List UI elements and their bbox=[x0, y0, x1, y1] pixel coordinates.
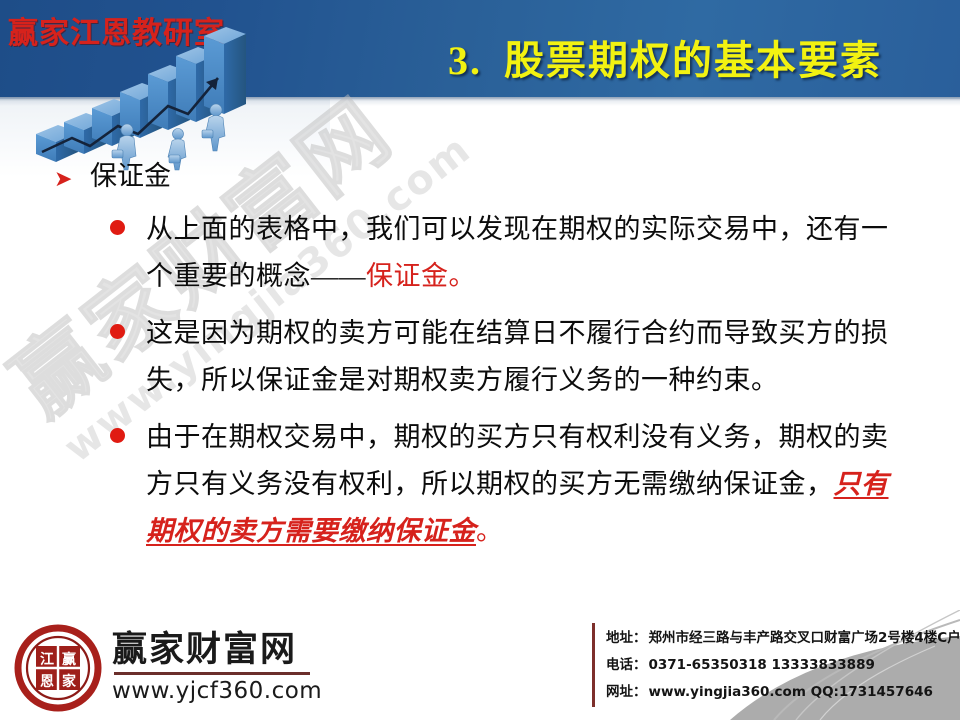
contact-phone-line: 电话：0371-65350318 13333833889 bbox=[606, 652, 960, 679]
seal-stamp-icon: 江 赢 恩 家 bbox=[14, 624, 102, 712]
contact-divider bbox=[592, 623, 595, 707]
bullet-text-highlight: 保证金。 bbox=[366, 261, 476, 291]
dot-bullet-icon bbox=[110, 324, 125, 339]
bar-chart-icon bbox=[28, 22, 288, 174]
bullet-text-highlight: 。 bbox=[476, 516, 504, 546]
bullet-paragraph: 由于在期权交易中，期权的买方只有权利没有义务，期权的卖方只有义务没有权利，所以期… bbox=[146, 414, 906, 555]
title-number: 3. bbox=[448, 38, 482, 83]
dot-bullet-icon bbox=[110, 428, 125, 443]
contact-block: 地址：郑州市经三路与丰产路交叉口财富广场2号楼4楼C户 电话：0371-6535… bbox=[592, 625, 960, 706]
contact-phone-label: 电话： bbox=[606, 657, 647, 673]
svg-text:家: 家 bbox=[62, 673, 77, 690]
contact-address-value: 郑州市经三路与丰产路交叉口财富广场2号楼4楼C户 bbox=[649, 630, 960, 646]
logo-text-block: 赢家财富网 www.yjcf360.com bbox=[112, 632, 322, 705]
list-item: 这是因为期权的卖方可能在结算日不履行合约而导致买方的损失，所以保证金是对期权卖方… bbox=[0, 310, 960, 404]
svg-text:赢: 赢 bbox=[62, 651, 76, 668]
logo-url: www.yjcf360.com bbox=[112, 678, 322, 704]
list-item: 由于在期权交易中，期权的买方只有权利没有义务，期权的卖方只有义务没有权利，所以期… bbox=[0, 414, 960, 555]
contact-web-value: www.yingjia360.com QQ:1731457646 bbox=[649, 684, 933, 700]
list-item: 从上面的表格中，我们可以发现在期权的实际交易中，还有一个重要的概念——保证金。 bbox=[0, 206, 960, 300]
bullet-paragraph: 从上面的表格中，我们可以发现在期权的实际交易中，还有一个重要的概念——保证金。 bbox=[146, 206, 906, 300]
bullet-paragraph: 这是因为期权的卖方可能在结算日不履行合约而导致买方的损失，所以保证金是对期权卖方… bbox=[146, 310, 906, 404]
site-logo: 江 赢 恩 家 赢家财富网 www.yjcf360.com bbox=[14, 624, 322, 712]
logo-divider bbox=[114, 672, 310, 675]
page-title: 3.股票期权的基本要素 bbox=[448, 28, 882, 86]
logo-brand-name: 赢家财富网 bbox=[112, 632, 322, 669]
contact-address-line: 地址：郑州市经三路与丰产路交叉口财富广场2号楼4楼C户 bbox=[606, 625, 960, 652]
svg-text:恩: 恩 bbox=[40, 674, 54, 690]
bullet-text-normal: 从上面的表格中，我们可以发现在期权的实际交易中，还有一个重要的概念—— bbox=[146, 214, 889, 291]
slide: 赢家江恩教研室 3.股票期权的基本要素 bbox=[0, 0, 960, 720]
svg-text:江: 江 bbox=[40, 651, 54, 668]
bullet-text-normal: 由于在期权交易中，期权的买方只有权利没有义务，期权的卖方只有义务没有权利，所以期… bbox=[146, 422, 889, 499]
slide-content: ➤ 保证金 从上面的表格中，我们可以发现在期权的实际交易中，还有一个重要的概念—… bbox=[0, 160, 960, 565]
footer: 江 赢 恩 家 赢家财富网 www.yjcf360.com 地址：郑州市经三路与… bbox=[0, 595, 960, 720]
contact-web-label: 网址： bbox=[606, 684, 647, 700]
bullet-list: 从上面的表格中，我们可以发现在期权的实际交易中，还有一个重要的概念——保证金。 … bbox=[0, 206, 960, 555]
contact-address-label: 地址： bbox=[606, 630, 647, 646]
dot-bullet-icon bbox=[110, 220, 125, 235]
arrow-bullet-icon: ➤ bbox=[54, 168, 72, 190]
section-heading: 保证金 bbox=[90, 160, 171, 192]
contact-web-line: 网址：www.yingjia360.com QQ:1731457646 bbox=[606, 679, 960, 706]
section-heading-row: ➤ 保证金 bbox=[0, 160, 960, 192]
bullet-text-normal: 这是因为期权的卖方可能在结算日不履行合约而导致买方的损失，所以保证金是对期权卖方… bbox=[146, 318, 889, 395]
contact-phone-value: 0371-65350318 13333833889 bbox=[649, 657, 875, 673]
title-text: 股票期权的基本要素 bbox=[504, 38, 882, 83]
